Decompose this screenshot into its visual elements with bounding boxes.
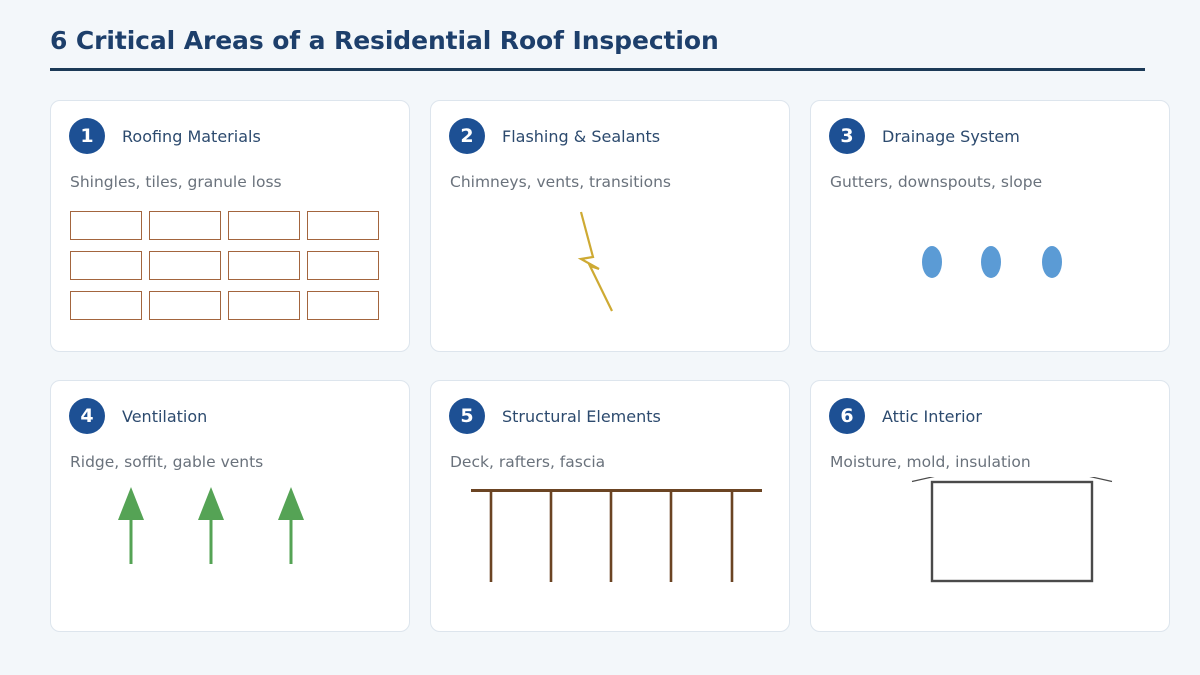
page-header: 6 Critical Areas of a Residential Roof I… bbox=[50, 24, 1150, 71]
shingle-tile bbox=[228, 291, 300, 320]
badge-number-1: 1 bbox=[69, 118, 105, 154]
water-droplet bbox=[922, 246, 942, 278]
badge-number-6: 6 bbox=[829, 398, 865, 434]
title-divider bbox=[50, 68, 1145, 71]
card-drainage-system[interactable]: 3 Drainage System Gutters, downspouts, s… bbox=[810, 100, 1170, 352]
badge-number-3: 3 bbox=[829, 118, 865, 154]
card-header: 4 Ventilation bbox=[69, 398, 207, 434]
badge-number-2: 2 bbox=[449, 118, 485, 154]
page-title: 6 Critical Areas of a Residential Roof I… bbox=[50, 24, 1150, 58]
shingle-tile bbox=[228, 211, 300, 240]
card-subtitle: Ridge, soffit, gable vents bbox=[70, 453, 263, 471]
card-title: Structural Elements bbox=[502, 407, 661, 426]
flashing-zigzag-illustration bbox=[431, 197, 789, 347]
shingle-tile bbox=[228, 251, 300, 280]
shingle-tile bbox=[70, 211, 142, 240]
shingle-tile bbox=[149, 251, 221, 280]
card-ventilation[interactable]: 4 Ventilation Ridge, soffit, gable vents bbox=[50, 380, 410, 632]
shingle-tile bbox=[307, 251, 379, 280]
house-gable-illustration bbox=[811, 477, 1169, 627]
shingle-tile bbox=[307, 291, 379, 320]
card-subtitle: Deck, rafters, fascia bbox=[450, 453, 605, 471]
shingle-tile bbox=[70, 251, 142, 280]
card-title: Flashing & Sealants bbox=[502, 127, 660, 146]
badge-number-5: 5 bbox=[449, 398, 485, 434]
card-attic-interior[interactable]: 6 Attic Interior Moisture, mold, insulat… bbox=[810, 380, 1170, 632]
card-title: Roofing Materials bbox=[122, 127, 261, 146]
airflow-arrow bbox=[278, 487, 304, 564]
airflow-arrow bbox=[118, 487, 144, 564]
card-roofing-materials[interactable]: 1 Roofing Materials Shingles, tiles, gra… bbox=[50, 100, 410, 352]
card-subtitle: Chimneys, vents, transitions bbox=[450, 173, 671, 191]
card-header: 6 Attic Interior bbox=[829, 398, 982, 434]
shingle-tile bbox=[307, 211, 379, 240]
card-header: 3 Drainage System bbox=[829, 118, 1020, 154]
attic-wall-box bbox=[932, 482, 1092, 581]
card-title: Attic Interior bbox=[882, 407, 982, 426]
shingle-tile bbox=[149, 291, 221, 320]
water-droplet bbox=[981, 246, 1001, 278]
rafter-frame-illustration bbox=[431, 477, 789, 627]
card-title: Drainage System bbox=[882, 127, 1020, 146]
card-subtitle: Moisture, mold, insulation bbox=[830, 453, 1031, 471]
card-header: 1 Roofing Materials bbox=[69, 118, 261, 154]
card-subtitle: Gutters, downspouts, slope bbox=[830, 173, 1042, 191]
card-title: Ventilation bbox=[122, 407, 207, 426]
card-header: 5 Structural Elements bbox=[449, 398, 661, 434]
card-subtitle: Shingles, tiles, granule loss bbox=[70, 173, 282, 191]
card-header: 2 Flashing & Sealants bbox=[449, 118, 660, 154]
badge-number-4: 4 bbox=[69, 398, 105, 434]
shingle-tile bbox=[70, 291, 142, 320]
shingle-grid-illustration bbox=[70, 211, 379, 320]
card-flashing-sealants[interactable]: 2 Flashing & Sealants Chimneys, vents, t… bbox=[430, 100, 790, 352]
water-droplet bbox=[1042, 246, 1062, 278]
card-structural-elements[interactable]: 5 Structural Elements Deck, rafters, fas… bbox=[430, 380, 790, 632]
shingle-tile bbox=[149, 211, 221, 240]
airflow-arrows-illustration bbox=[51, 477, 409, 627]
water-droplets-illustration bbox=[811, 246, 1169, 286]
card-grid: 1 Roofing Materials Shingles, tiles, gra… bbox=[50, 100, 1170, 632]
airflow-arrow bbox=[198, 487, 224, 564]
